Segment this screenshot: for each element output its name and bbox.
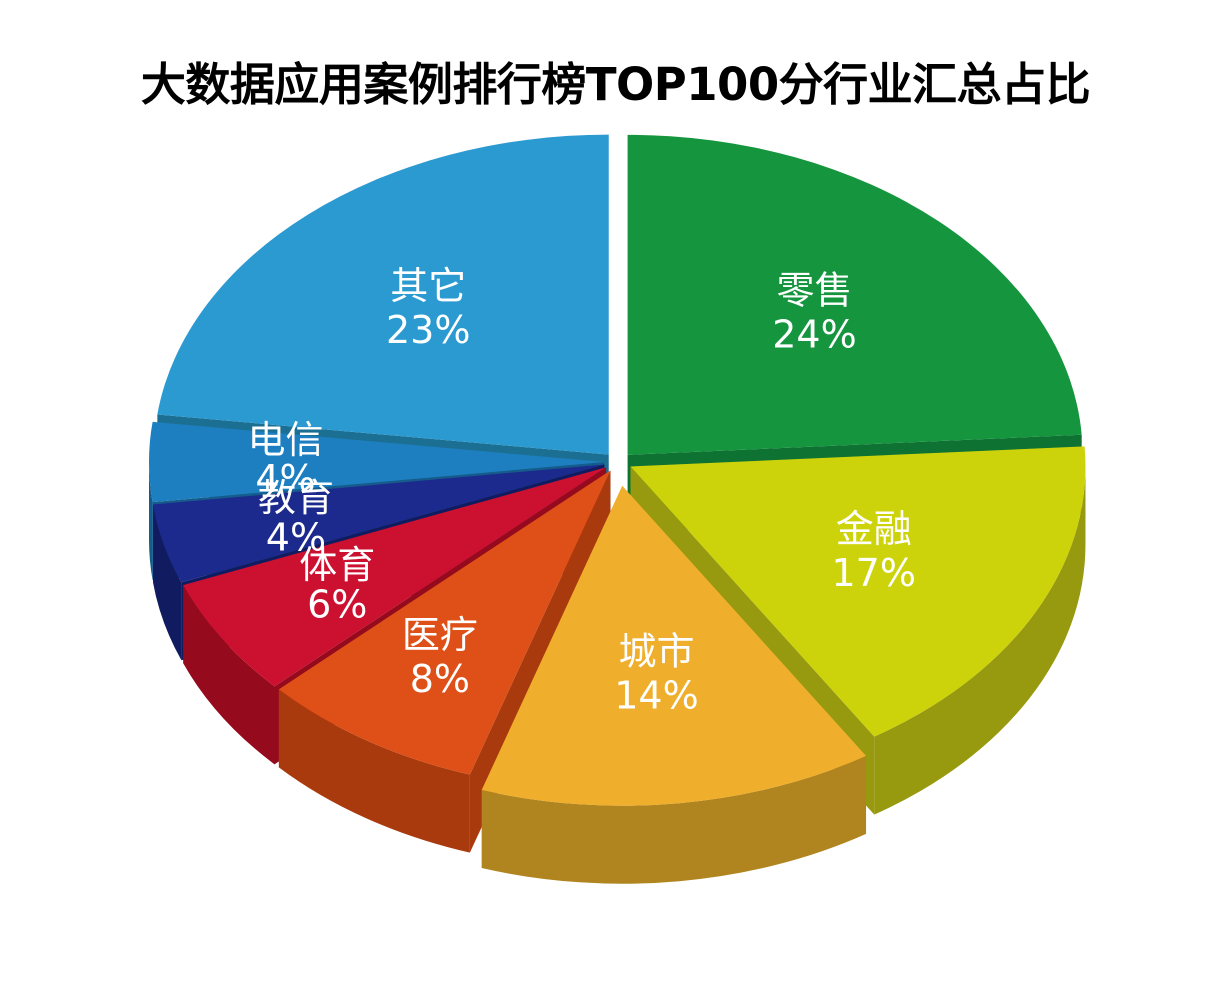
slice-label-value-金融: 17% [831,551,915,595]
slice-label-name-城市: 城市 [618,630,694,674]
slice-label-name-医疗: 医疗 [402,613,478,657]
slice-label-value-电信: 4% [255,457,315,501]
pie-slice-其它[interactable] [157,135,608,455]
slice-label-name-其它: 其它 [390,264,466,308]
slice-label-name-金融: 金融 [836,507,912,551]
slice-label-value-零售: 24% [772,312,856,356]
slice-label-value-医疗: 8% [410,657,470,701]
slice-label-value-其它: 23% [386,308,470,352]
pie-chart-page: 大数据应用案例排行榜TOP100分行业汇总占比 零售24%金融17%城市14%医… [0,0,1231,988]
pie-chart-svg: 零售24%金融17%城市14%医疗8%体育6%教育4%电信4%其它23% [0,0,1231,988]
slice-label-name-电信: 电信 [247,418,323,462]
slice-label-value-教育: 4% [266,515,326,559]
pie-slice-零售[interactable] [628,135,1082,455]
slice-label-name-零售: 零售 [776,268,852,312]
pie-chart-figure: 零售24%金融17%城市14%医疗8%体育6%教育4%电信4%其它23% [0,0,1231,988]
slice-label-value-城市: 14% [614,674,698,718]
slice-label-value-体育: 6% [307,583,367,627]
